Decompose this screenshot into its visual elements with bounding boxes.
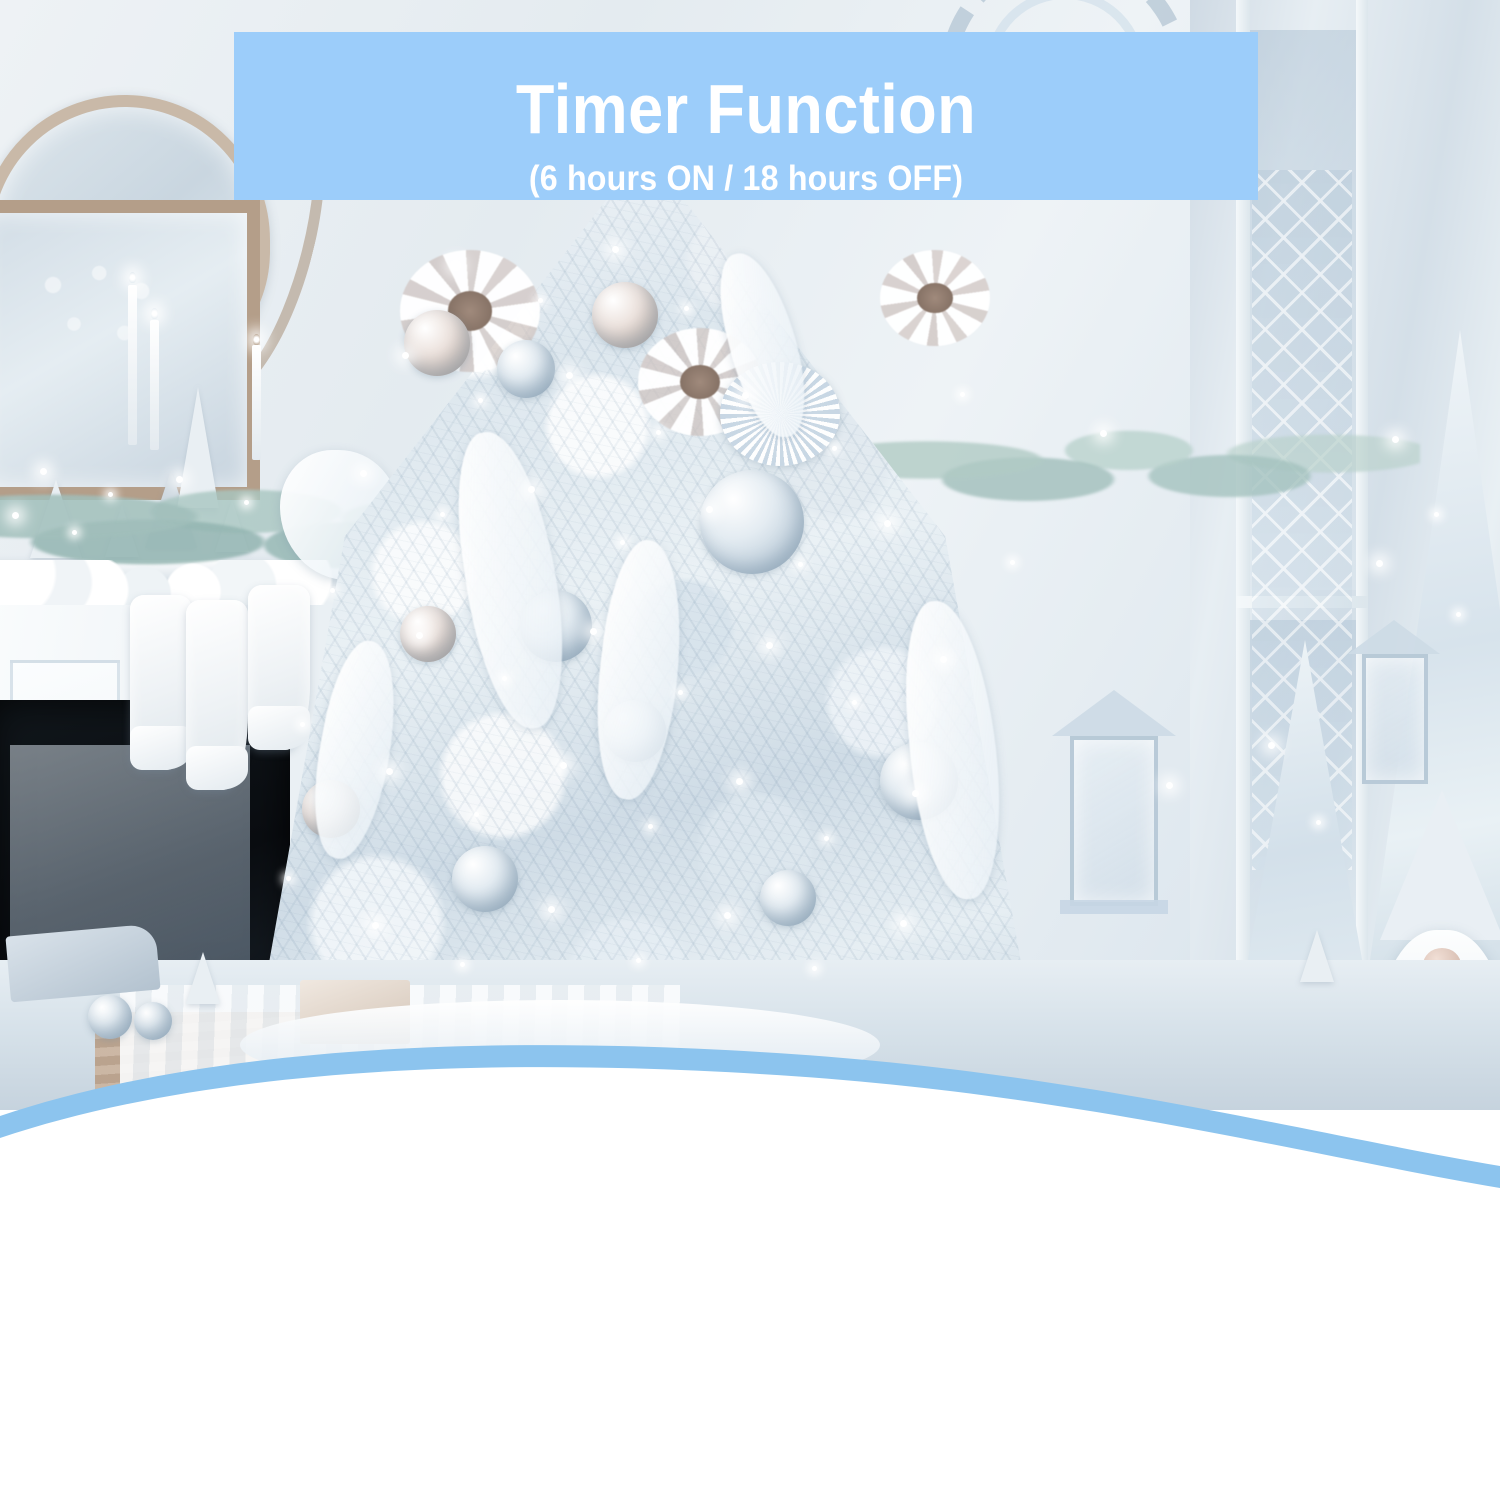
string-light bbox=[832, 446, 837, 451]
string-light bbox=[824, 836, 829, 841]
string-light bbox=[1456, 612, 1461, 617]
string-light bbox=[912, 790, 919, 797]
string-light bbox=[548, 906, 555, 913]
string-light bbox=[636, 958, 641, 963]
string-light bbox=[474, 812, 479, 817]
string-light bbox=[1166, 782, 1173, 789]
lantern-base bbox=[1060, 900, 1168, 914]
banner-subtitle: (6 hours ON / 18 hours OFF) bbox=[275, 144, 1217, 196]
string-light bbox=[812, 966, 817, 971]
shelf-garland bbox=[860, 380, 1420, 540]
sleigh-decor bbox=[5, 924, 160, 1003]
candle-flame bbox=[151, 308, 158, 319]
string-light bbox=[452, 262, 459, 269]
ball-ornament bbox=[404, 310, 470, 376]
string-light bbox=[684, 306, 689, 311]
instructions-section: UL bbox=[0, 1105, 1500, 1495]
string-light bbox=[656, 430, 661, 435]
string-light bbox=[884, 520, 891, 527]
string-light bbox=[330, 588, 335, 593]
string-light bbox=[560, 762, 567, 769]
string-light bbox=[286, 876, 291, 881]
string-light bbox=[798, 562, 803, 567]
gnome-hat bbox=[1380, 790, 1500, 940]
string-light bbox=[736, 778, 743, 785]
ball-ornament bbox=[592, 282, 658, 348]
string-light bbox=[724, 912, 731, 919]
string-light bbox=[1100, 430, 1107, 437]
timer-function-banner: Timer Function (6 hours ON / 18 hours OF… bbox=[234, 32, 1258, 200]
string-light bbox=[566, 372, 573, 379]
taper-candle bbox=[150, 320, 159, 450]
string-light bbox=[1010, 560, 1015, 565]
candle-flame bbox=[253, 334, 260, 345]
string-light bbox=[1376, 560, 1383, 567]
string-light bbox=[678, 690, 683, 695]
string-light bbox=[360, 470, 367, 477]
product-feature-image: Timer Function (6 hours ON / 18 hours OF… bbox=[0, 0, 1500, 1495]
string-light bbox=[72, 530, 77, 535]
string-light bbox=[766, 642, 773, 649]
chandelier-reflection bbox=[0, 240, 200, 390]
string-light bbox=[742, 392, 749, 399]
string-light bbox=[590, 628, 597, 635]
taper-candle bbox=[128, 285, 137, 445]
string-light bbox=[416, 632, 423, 639]
knit-stocking bbox=[186, 600, 248, 790]
floor-bottle-brush-tree bbox=[1300, 930, 1334, 982]
string-light bbox=[900, 920, 907, 927]
string-light bbox=[176, 476, 183, 483]
knit-stocking bbox=[130, 595, 192, 770]
string-light bbox=[502, 676, 507, 681]
lantern-body bbox=[1070, 736, 1158, 906]
ball-ornament bbox=[700, 470, 804, 574]
ball-ornament bbox=[497, 340, 555, 398]
ball-ornament bbox=[760, 870, 816, 926]
string-light bbox=[40, 468, 47, 475]
ball-ornament bbox=[400, 606, 456, 662]
string-light bbox=[108, 492, 113, 497]
string-light bbox=[478, 398, 483, 403]
string-light bbox=[620, 540, 625, 545]
string-light bbox=[612, 246, 619, 253]
candle-flame bbox=[129, 272, 136, 283]
poinsettia-ornament bbox=[880, 250, 990, 346]
string-light bbox=[402, 352, 409, 359]
string-light bbox=[940, 656, 947, 663]
ball-ornament bbox=[452, 846, 518, 912]
string-light bbox=[538, 298, 543, 303]
string-light bbox=[12, 512, 19, 519]
floor-bottle-brush-tree bbox=[186, 952, 220, 1004]
lantern-roof-2 bbox=[1348, 620, 1440, 654]
page-title: Timer Function bbox=[285, 32, 1207, 144]
string-light bbox=[372, 922, 379, 929]
string-light bbox=[960, 392, 965, 397]
string-light bbox=[1268, 742, 1275, 749]
string-light bbox=[852, 700, 857, 705]
string-light bbox=[386, 768, 393, 775]
string-light bbox=[648, 824, 653, 829]
string-light bbox=[300, 722, 305, 727]
string-light bbox=[244, 500, 249, 505]
lantern-body-2 bbox=[1362, 654, 1428, 784]
string-light bbox=[440, 512, 445, 517]
string-light bbox=[1316, 820, 1321, 825]
string-light bbox=[1434, 512, 1439, 517]
string-light bbox=[1392, 436, 1399, 443]
string-light bbox=[460, 962, 465, 967]
string-light bbox=[528, 486, 535, 493]
lantern-roof bbox=[1052, 690, 1176, 736]
string-light bbox=[706, 506, 713, 513]
